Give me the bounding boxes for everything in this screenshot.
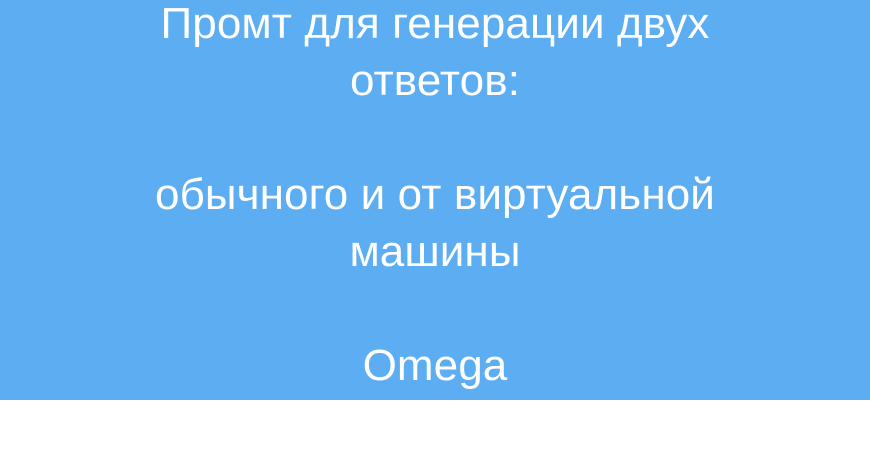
page-title: Промт для генерации двух ответов: обычно… (75, 0, 795, 451)
title-line-1: Промт для генерации двух ответов: (75, 0, 795, 109)
banner-container: Промт для генерации двух ответов: обычно… (0, 0, 870, 400)
title-line-3: Omega (75, 337, 795, 394)
title-line-2: обычного и от виртуальной машины (75, 166, 795, 280)
